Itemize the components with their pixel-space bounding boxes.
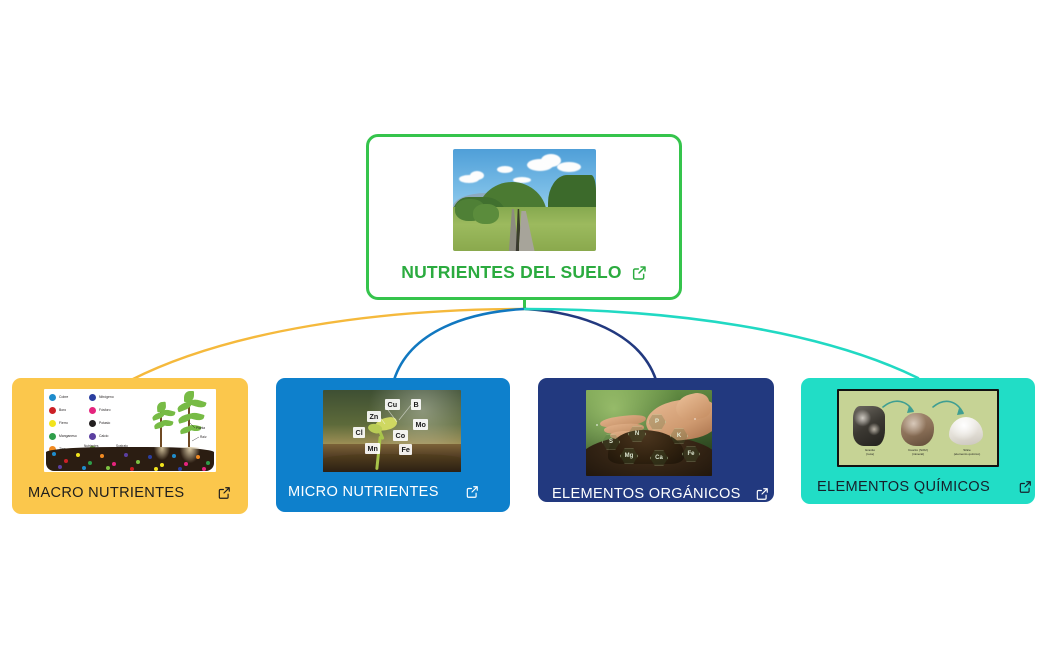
card-organicos-title-row: ELEMENTOS ORGÁNICOS <box>538 476 774 502</box>
root-node[interactable]: NUTRIENTES DEL SUELO <box>366 134 682 300</box>
card-organicos-title: ELEMENTOS ORGÁNICOS <box>552 486 741 502</box>
card-micro-title: MICRO NUTRIENTES <box>288 484 439 500</box>
card-macro-image: Cobre Boro Fierro Manganeso Zinc Nitróge… <box>44 389 216 472</box>
quimicos-label-silice: Sílice (elemento químico) <box>943 449 991 457</box>
external-link-icon[interactable] <box>755 487 769 501</box>
card-quimicos-image: Granito (roca) Cuarzo (SiO2) (mineral) S… <box>837 389 999 467</box>
external-link-icon[interactable] <box>217 486 231 500</box>
connector-micro <box>394 309 524 380</box>
card-micro-title-row: MICRO NUTRIENTES <box>276 472 510 500</box>
card-macro-nutrientes[interactable]: Cobre Boro Fierro Manganeso Zinc Nitróge… <box>12 378 248 514</box>
root-node-title: NUTRIENTES DEL SUELO <box>401 262 622 283</box>
card-macro-title-row: MACRO NUTRIENTES <box>12 472 248 501</box>
card-organicos-image: P N S K Mg Ca Fe <box>586 390 712 476</box>
connector-organicos <box>525 309 656 380</box>
card-quimicos-title: ELEMENTOS QUÍMICOS <box>817 479 990 495</box>
connector-macro <box>131 309 524 380</box>
root-node-image <box>453 149 596 251</box>
external-link-icon[interactable] <box>465 485 479 499</box>
card-elementos-organicos[interactable]: P N S K Mg Ca Fe ELEMENTOS ORGÁNICOS <box>538 378 774 502</box>
quimicos-label-cuarzo: Cuarzo (SiO2) (mineral) <box>896 449 940 457</box>
connector-quimicos <box>525 309 918 378</box>
card-elementos-quimicos[interactable]: Granito (roca) Cuarzo (SiO2) (mineral) S… <box>801 378 1035 504</box>
external-link-icon[interactable] <box>631 265 647 281</box>
quimicos-label-granito: Granito (roca) <box>851 449 889 457</box>
mindmap-canvas: NUTRIENTES DEL SUELO Cobre Boro Fierro M… <box>0 0 1049 650</box>
external-link-icon[interactable] <box>1018 480 1032 494</box>
card-micro-image: Cu B Zn Mo Cl Co Mn Fe <box>323 390 461 472</box>
connector-lines <box>0 0 1049 650</box>
card-micro-nutrientes[interactable]: Cu B Zn Mo Cl Co Mn Fe MICRO NUTRIENTES <box>276 378 510 512</box>
root-node-title-row: NUTRIENTES DEL SUELO <box>401 262 647 283</box>
card-macro-title: MACRO NUTRIENTES <box>28 485 184 501</box>
card-quimicos-title-row: ELEMENTOS QUÍMICOS <box>801 467 1035 495</box>
